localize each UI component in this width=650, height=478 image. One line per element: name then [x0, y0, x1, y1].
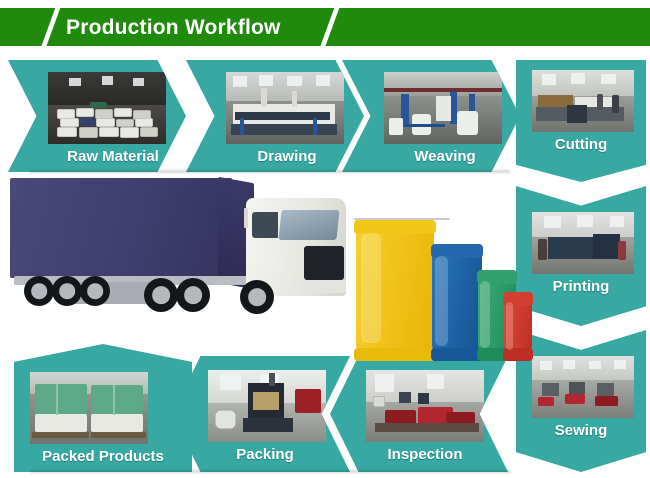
truck-wheel-6 [240, 280, 274, 314]
step-block-drawing[interactable]: Drawing [186, 60, 364, 172]
banner-slash-right-icon [318, 8, 342, 46]
truck-wheel-2 [52, 276, 82, 306]
row-shadow-bottom [30, 470, 510, 473]
page-title: Production Workflow [66, 17, 281, 38]
truck-side-window [252, 212, 278, 238]
step-photo-printing [532, 212, 634, 274]
truck-windshield [278, 210, 339, 240]
step-label-weaving: Weaving [342, 148, 534, 165]
workflow-infographic: Production Workflow [0, 0, 650, 478]
step-photo-packed-products [30, 372, 148, 444]
step-photo-inspection [366, 370, 484, 442]
step-label-inspection: Inspection [330, 446, 514, 463]
step-label-sewing: Sewing [516, 422, 646, 439]
step-label-cutting: Cutting [516, 136, 646, 153]
woven-bag-samples-image [352, 200, 534, 355]
step-label-packing: Packing [172, 446, 354, 463]
step-label-raw-material: Raw Material [8, 148, 202, 165]
truck-grille [304, 246, 344, 280]
truck-wheel-5 [176, 278, 210, 312]
step-block-cutting[interactable]: Cutting [516, 60, 646, 182]
step-label-printing: Printing [516, 278, 646, 295]
delivery-truck-image [4, 172, 356, 342]
step-label-packed-products: Packed Products [14, 448, 192, 465]
step-block-raw-material[interactable]: Raw Material [8, 60, 186, 172]
step-photo-sewing [532, 356, 634, 418]
header-banner: Production Workflow [0, 8, 650, 46]
step-block-sewing[interactable]: Sewing [516, 330, 646, 472]
blue-bag [432, 251, 482, 355]
step-photo-raw-material [48, 72, 166, 144]
step-photo-cutting [532, 70, 634, 132]
step-block-packed-products[interactable]: Packed Products [14, 344, 192, 472]
truck-wheel-4 [144, 278, 178, 312]
truck-wheel-1 [24, 276, 54, 306]
row-shadow-top [30, 170, 510, 173]
step-photo-weaving [384, 72, 502, 144]
banner-slash-left-icon [39, 8, 63, 46]
red-bag [504, 299, 532, 355]
step-photo-packing [208, 370, 326, 442]
yellow-bag [356, 227, 434, 355]
step-block-inspection[interactable]: Inspection [330, 356, 508, 472]
truck-mirror-left [244, 208, 248, 228]
truck-bumper [300, 280, 346, 293]
truck-trailer [10, 178, 232, 278]
step-photo-drawing [226, 72, 344, 144]
truck-mirror-right [342, 206, 346, 226]
step-block-printing[interactable]: Printing [516, 186, 646, 326]
step-block-packing[interactable]: Packing [172, 356, 350, 472]
step-block-weaving[interactable]: Weaving [342, 60, 520, 172]
truck-wheel-3 [80, 276, 110, 306]
